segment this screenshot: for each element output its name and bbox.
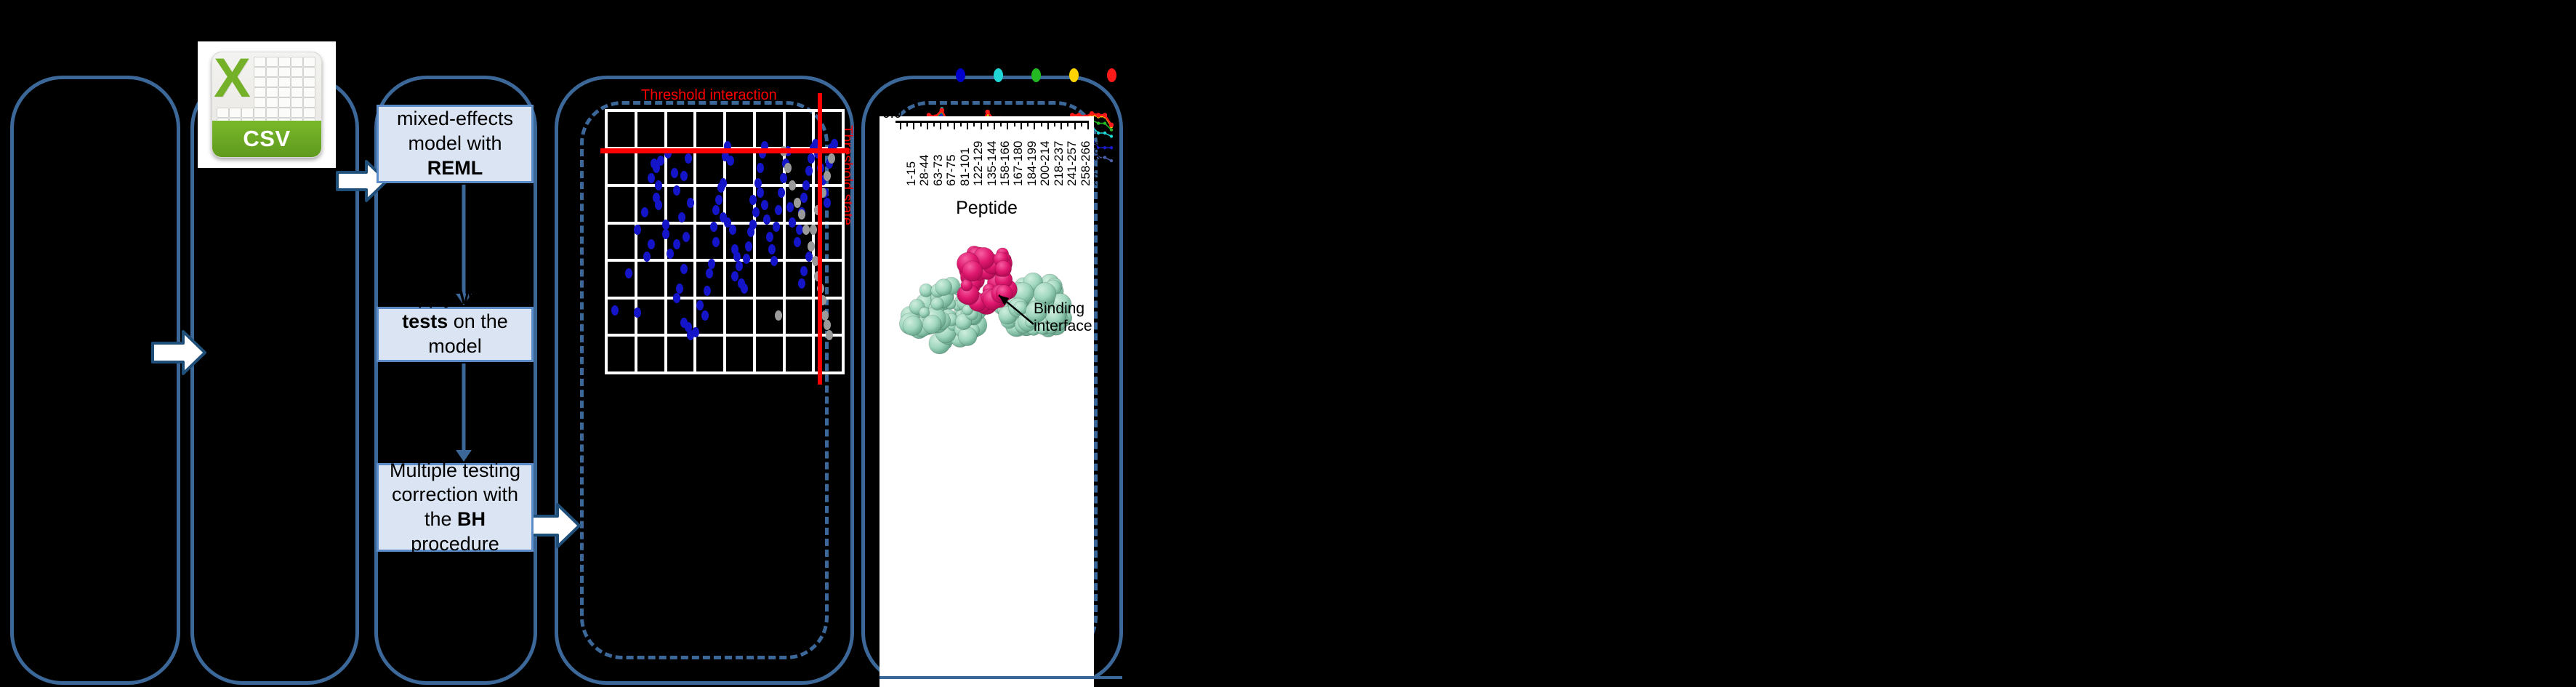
x-axis-minor-tick bbox=[987, 121, 989, 126]
scatter-point bbox=[678, 212, 685, 222]
spreadsheet-cell bbox=[291, 97, 303, 108]
x-axis-minor-tick bbox=[947, 121, 949, 126]
step-3-text-before: Multiple testing correction with the bbox=[390, 459, 520, 531]
csv-label-band: CSV bbox=[212, 121, 321, 157]
scatter-point bbox=[701, 310, 709, 321]
scatter-point bbox=[768, 244, 776, 254]
scatter-point bbox=[611, 305, 619, 316]
scatter-point bbox=[712, 237, 720, 247]
gridline-horizontal bbox=[605, 334, 845, 337]
x-axis-minor-tick bbox=[1000, 121, 1002, 126]
spreadsheet-cell bbox=[303, 97, 315, 108]
scatter-point bbox=[824, 320, 831, 330]
x-axis-tick bbox=[1060, 121, 1062, 129]
x-axis-minor-tick bbox=[960, 121, 962, 126]
peptide-tick-label: 1-15 bbox=[904, 161, 919, 186]
scatter-point bbox=[800, 266, 808, 276]
csv-file-icon: X CSV bbox=[198, 41, 336, 168]
threshold-state-line bbox=[818, 93, 822, 385]
peptide-tick-label: 167-180 bbox=[1011, 141, 1026, 186]
scatter-point bbox=[798, 209, 805, 220]
peptide-tick-label: 135-144 bbox=[985, 141, 999, 186]
scatter-point bbox=[708, 259, 715, 269]
scatter-point bbox=[712, 205, 720, 215]
x-axis-tick bbox=[1074, 121, 1076, 129]
step-box-bh[interactable]: Multiple testing correction with the BH … bbox=[377, 463, 534, 552]
scatter-point bbox=[805, 166, 813, 176]
protein-surface-blob bbox=[931, 297, 944, 310]
scatter-point bbox=[673, 293, 680, 303]
spreadsheet-cell bbox=[303, 57, 315, 67]
spreadsheet-cell bbox=[229, 108, 241, 118]
line-point bbox=[1097, 132, 1100, 134]
legend-dot-1 bbox=[994, 68, 1003, 82]
scatter-point bbox=[731, 271, 738, 281]
arrow-stats-to-results bbox=[526, 502, 581, 550]
legend-dot-3 bbox=[1069, 68, 1079, 82]
scatter-point bbox=[743, 254, 750, 264]
x-axis-minor-tick bbox=[1014, 121, 1015, 126]
scatter-plot-area bbox=[605, 109, 845, 374]
scatter-point bbox=[798, 278, 805, 289]
step-1-bold: REML bbox=[427, 157, 483, 179]
line-point bbox=[1110, 128, 1113, 131]
spreadsheet-cell bbox=[303, 108, 315, 118]
diagram-stage: X CSV Fit a linear mixed-effects model w… bbox=[0, 0, 2576, 687]
scatter-point bbox=[671, 168, 678, 178]
protein-surface-blob bbox=[935, 279, 952, 296]
csv-card: X CSV bbox=[212, 52, 322, 158]
scatter-point bbox=[786, 202, 794, 212]
scatter-point bbox=[706, 268, 713, 278]
spreadsheet-cell bbox=[278, 108, 291, 118]
spreadsheet-cell bbox=[217, 108, 229, 118]
spreadsheet-cell bbox=[266, 87, 278, 97]
scatter-point bbox=[720, 178, 727, 188]
scatter-point bbox=[643, 252, 651, 262]
line-point bbox=[1097, 121, 1100, 124]
scatter-point bbox=[749, 220, 757, 230]
x-axis-tick bbox=[967, 121, 968, 129]
scatter-point bbox=[794, 198, 801, 208]
scatter-point bbox=[648, 173, 655, 183]
x-axis-minor-tick bbox=[933, 121, 935, 126]
spreadsheet-cell bbox=[241, 108, 254, 118]
spreadsheet-cell bbox=[254, 97, 266, 108]
excel-x-glyph: X bbox=[214, 52, 251, 106]
peptide-axis-card: 0.0 1-1528-4463-7367-7581-101122-129135-… bbox=[880, 116, 1094, 687]
scatter-point bbox=[828, 153, 835, 164]
scatter-point bbox=[662, 220, 669, 230]
threshold-interaction-label: Threshold interaction bbox=[641, 87, 777, 104]
x-axis-title: Peptide bbox=[880, 198, 1094, 219]
scatter-point bbox=[729, 225, 736, 235]
csv-label: CSV bbox=[243, 126, 290, 152]
scatter-point bbox=[780, 173, 787, 183]
scatter-point bbox=[648, 239, 655, 249]
spreadsheet-cell bbox=[303, 67, 315, 77]
y-axis-zero-tick: 0.0 bbox=[882, 106, 901, 122]
scatter-point bbox=[662, 229, 669, 239]
scatter-point bbox=[715, 195, 723, 205]
spreadsheet-cell bbox=[291, 87, 303, 97]
scatter-point bbox=[625, 268, 632, 278]
scatter-point bbox=[802, 225, 810, 235]
gridline-horizontal bbox=[605, 371, 845, 374]
legend-dot-2 bbox=[1031, 68, 1041, 82]
x-axis-minor-tick bbox=[906, 121, 908, 126]
arrow-shaft bbox=[462, 185, 466, 294]
scatter-point bbox=[696, 300, 704, 310]
x-axis-line bbox=[895, 121, 1088, 123]
peptide-tick-label: 277-284 bbox=[1092, 141, 1106, 186]
scatter-point bbox=[667, 249, 674, 259]
spreadsheet-cell bbox=[266, 57, 278, 67]
peptide-tick-label: 200-214 bbox=[1038, 141, 1052, 186]
spreadsheet-cell bbox=[254, 77, 266, 87]
scatter-point bbox=[745, 241, 752, 252]
line-point bbox=[1110, 159, 1113, 162]
spreadsheet-cell bbox=[278, 87, 291, 97]
protein-structure-image bbox=[891, 225, 1082, 371]
scatter-point bbox=[824, 198, 831, 208]
scatter-point bbox=[789, 217, 796, 228]
x-axis-tick bbox=[1087, 121, 1089, 129]
step-3-bold: BH bbox=[457, 508, 486, 530]
scatter-point bbox=[808, 241, 815, 252]
binding-line-1: Binding bbox=[1034, 300, 1096, 318]
scatter-point bbox=[634, 225, 641, 235]
flow-arrow-2 bbox=[455, 363, 472, 462]
scatter-point bbox=[773, 222, 780, 232]
x-axis-tick bbox=[1047, 121, 1049, 129]
scatter-point bbox=[831, 139, 838, 149]
legend-dot-0 bbox=[956, 68, 965, 82]
peptide-tick-label: 67-75 bbox=[944, 155, 959, 186]
spreadsheet-cell bbox=[291, 57, 303, 67]
line-point bbox=[1096, 113, 1100, 117]
line-point bbox=[1110, 146, 1113, 149]
scatter-point bbox=[741, 284, 748, 294]
peptide-tick-label: 258-266 bbox=[1079, 141, 1093, 186]
peptide-tick-label: 28-44 bbox=[917, 155, 932, 186]
scatter-chart: Threshold interaction Threshold state bbox=[596, 87, 850, 422]
spreadsheet-cell bbox=[303, 87, 315, 97]
scatter-point bbox=[710, 222, 717, 232]
spreadsheet-cell bbox=[254, 87, 266, 97]
step-box-reml[interactable]: Fit a linear mixed-effects model with RE… bbox=[377, 105, 534, 183]
arrow-input-to-csv bbox=[151, 329, 206, 377]
spreadsheet-cell bbox=[291, 108, 303, 118]
x-axis-tick bbox=[1034, 121, 1035, 129]
x-axis-minor-tick bbox=[1054, 121, 1055, 126]
spreadsheet-cell bbox=[266, 77, 278, 87]
x-axis-tick bbox=[927, 121, 928, 129]
x-axis-tick bbox=[913, 121, 914, 129]
peptide-tick-label: 81-101 bbox=[958, 148, 973, 186]
spreadsheet-cell bbox=[266, 67, 278, 77]
scatter-point bbox=[821, 310, 829, 321]
arrow-shaft bbox=[462, 363, 466, 450]
x-axis-minor-tick bbox=[1027, 121, 1029, 126]
spreadsheet-cell bbox=[303, 77, 315, 87]
spreadsheet-cell bbox=[254, 57, 266, 67]
scatter-point bbox=[673, 239, 680, 249]
x-axis-minor-tick bbox=[1041, 121, 1042, 126]
scatter-point bbox=[757, 163, 764, 173]
x-axis-tick bbox=[981, 121, 982, 129]
x-axis-tick bbox=[1021, 121, 1022, 129]
x-axis-tick bbox=[1007, 121, 1008, 129]
scatter-point bbox=[808, 153, 815, 164]
scatter-point bbox=[634, 308, 641, 318]
x-axis-minor-tick bbox=[920, 121, 922, 126]
scatter-point bbox=[736, 261, 743, 271]
x-axis-tick bbox=[900, 121, 901, 129]
x-axis-minor-tick bbox=[1067, 121, 1068, 126]
line-point bbox=[985, 110, 989, 114]
peptide-tick-label: 122-129 bbox=[971, 141, 986, 186]
scatter-point bbox=[824, 171, 831, 181]
protein-surface-blob bbox=[958, 327, 977, 346]
spreadsheet-cell bbox=[266, 108, 278, 118]
spreadsheet-cell bbox=[291, 77, 303, 87]
peptide-tick-label: 241-257 bbox=[1065, 141, 1079, 186]
scatter-point bbox=[692, 327, 699, 337]
x-axis-tick bbox=[994, 121, 995, 129]
line-point bbox=[940, 108, 944, 113]
line-point bbox=[1090, 111, 1094, 116]
spreadsheet-cell bbox=[278, 97, 291, 108]
scatter-point bbox=[752, 207, 760, 217]
protein-surface-svg bbox=[891, 225, 1082, 371]
scatter-point bbox=[796, 225, 803, 235]
scatter-point bbox=[826, 330, 833, 340]
spreadsheet-cell bbox=[278, 57, 291, 67]
line-point bbox=[1103, 132, 1106, 134]
protein-surface-blob bbox=[903, 316, 922, 336]
spreadsheet-cell bbox=[291, 67, 303, 77]
scatter-point bbox=[810, 225, 817, 235]
scatter-point bbox=[683, 232, 690, 242]
scatter-point bbox=[775, 205, 782, 215]
scatter-point bbox=[754, 178, 762, 188]
scatter-point bbox=[805, 252, 813, 262]
peptide-tick-label: 63-73 bbox=[931, 155, 946, 186]
scatter-point bbox=[680, 171, 688, 181]
scatter-point bbox=[641, 207, 648, 217]
step-box-wald[interactable]: Apply Wald tests on the model parameters bbox=[377, 307, 534, 362]
line-point bbox=[1103, 113, 1107, 117]
scatter-point bbox=[704, 286, 711, 296]
scatter-point bbox=[676, 284, 683, 294]
x-axis-tick bbox=[940, 121, 941, 129]
protein-surface-blob bbox=[922, 315, 941, 334]
x-axis-tick bbox=[954, 121, 955, 129]
spreadsheet-cell bbox=[278, 77, 291, 87]
scatter-point bbox=[800, 193, 808, 203]
line-point bbox=[1109, 123, 1114, 127]
scatter-point bbox=[733, 252, 741, 262]
spreadsheet-cell bbox=[266, 97, 278, 108]
binding-interface-annotation: Binding interface bbox=[1034, 300, 1096, 335]
legend-dot-4 bbox=[1107, 68, 1116, 82]
scatter-point bbox=[794, 237, 801, 247]
x-axis-minor-tick bbox=[1081, 121, 1082, 126]
step-2-text-before: Apply bbox=[405, 286, 459, 308]
scatter-point bbox=[770, 256, 778, 266]
line-point bbox=[1110, 134, 1113, 137]
scatter-point bbox=[685, 153, 692, 164]
spreadsheet-cell bbox=[254, 67, 266, 77]
spreadsheet-cell bbox=[254, 108, 266, 118]
scatter-point bbox=[680, 264, 688, 274]
scatter-point bbox=[655, 180, 662, 190]
input-panel bbox=[10, 76, 180, 685]
gridline-horizontal bbox=[605, 297, 845, 300]
step-1-text-before: Fit a linear mixed-effects model with bbox=[397, 84, 513, 155]
scatter-point bbox=[766, 232, 773, 242]
scatter-point bbox=[673, 185, 680, 196]
spreadsheet-cell bbox=[278, 67, 291, 77]
bottom-divider bbox=[880, 676, 1122, 679]
scatter-point bbox=[784, 163, 792, 173]
scatter-point bbox=[778, 188, 785, 198]
scatter-point bbox=[775, 310, 782, 321]
gridline-horizontal bbox=[605, 109, 845, 112]
protein-surface-blob bbox=[995, 260, 1011, 276]
scatter-point bbox=[802, 180, 810, 190]
binding-line-2: interface bbox=[1034, 318, 1096, 335]
step-3-text-after: procedure bbox=[411, 533, 499, 555]
x-axis-minor-tick bbox=[973, 121, 975, 126]
peptide-tick-label: 184-199 bbox=[1025, 141, 1039, 186]
scatter-point bbox=[761, 200, 768, 210]
threshold-interaction-line bbox=[600, 148, 849, 153]
scatter-point bbox=[727, 156, 734, 166]
scatter-point bbox=[749, 195, 757, 205]
protein-surface-blob bbox=[962, 261, 983, 281]
scatter-point bbox=[789, 180, 796, 190]
peptide-tick-label: 158-166 bbox=[998, 141, 1013, 186]
scatter-point bbox=[757, 188, 764, 198]
scatter-point bbox=[655, 200, 662, 210]
peptide-tick-label: 218-237 bbox=[1052, 141, 1066, 186]
line-point bbox=[1103, 121, 1106, 124]
